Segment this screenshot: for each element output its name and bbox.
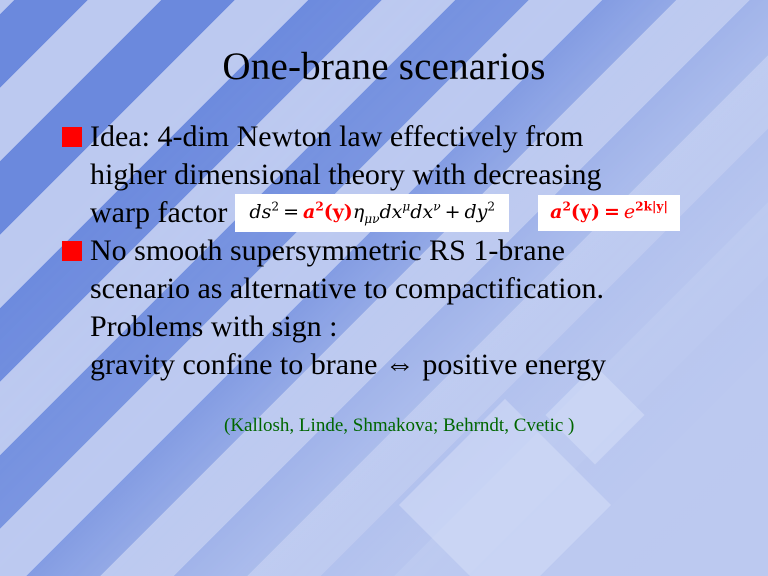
bullet-item-1: Idea: 4-dim Newton law effectively from … (58, 118, 758, 232)
formula-warp-equals: = (600, 201, 624, 223)
formula-metric-a: a (303, 201, 315, 223)
formula-warp-a: a (550, 201, 562, 223)
formula-metric-dy: dy (465, 201, 488, 223)
formula-metric-eta: η (353, 201, 364, 223)
formula-metric-plus: + (441, 201, 465, 223)
bullet-2-line-1: No smooth supersymmetric RS 1-brane (90, 232, 758, 270)
formula-metric-dy-exponent: 2 (487, 200, 495, 214)
formula-metric-equals: = (279, 201, 303, 223)
bullet-square-icon (62, 127, 82, 147)
formula-warp-exponent: 2k|y| (635, 200, 668, 214)
bullet-1-line-3: warp factor ds2=a2(y)ημνdxμdxν+dy2 a2(y)… (90, 194, 758, 232)
slide-title: One-brane scenarios (0, 44, 768, 90)
warp-factor-label: warp factor (90, 194, 227, 232)
formula-metric-box: ds2=a2(y)ημνdxμdxν+dy2 (235, 194, 509, 232)
formula-metric-a-exponent: 2 (315, 200, 323, 214)
slide-canvas: One-brane scenarios Idea: 4-dim Newton l… (0, 0, 768, 576)
formula-warp-box: a2(y)=e2k|y| (538, 195, 680, 231)
bullet-2-line-4: gravity confine to brane ⇔ positive ener… (90, 346, 758, 384)
bullet-1-line-2: higher dimensional theory with decreasin… (90, 156, 758, 194)
formula-metric-dx2-index: ν (433, 200, 440, 214)
formula-metric-a-argument: (y) (324, 201, 353, 223)
formula-warp-a-argument: (y) (571, 201, 600, 223)
bullet-2-line-3: Problems with sign : (90, 308, 758, 346)
formula-metric-ds: ds (249, 201, 271, 223)
formula-metric-eta-indices: μν (364, 212, 379, 226)
formula-warp-e: e (624, 201, 635, 223)
bullet-square-icon (62, 241, 82, 261)
bullet-item-2: No smooth supersymmetric RS 1-brane scen… (58, 232, 758, 384)
bullet-2-line-2: scenario as alternative to compactificat… (90, 270, 758, 308)
formula-metric-dx2: dx (410, 201, 433, 223)
bullet-1-line-1: Idea: 4-dim Newton law effectively from (90, 118, 758, 156)
formula-metric-dx1: dx (380, 201, 403, 223)
formula-warp-a-exponent: 2 (562, 200, 570, 214)
citation-references: (Kallosh, Linde, Shmakova; Behrndt, Cvet… (224, 414, 574, 438)
formula-metric-ds-exponent: 2 (271, 200, 279, 214)
slide-body: Idea: 4-dim Newton law effectively from … (58, 118, 758, 384)
